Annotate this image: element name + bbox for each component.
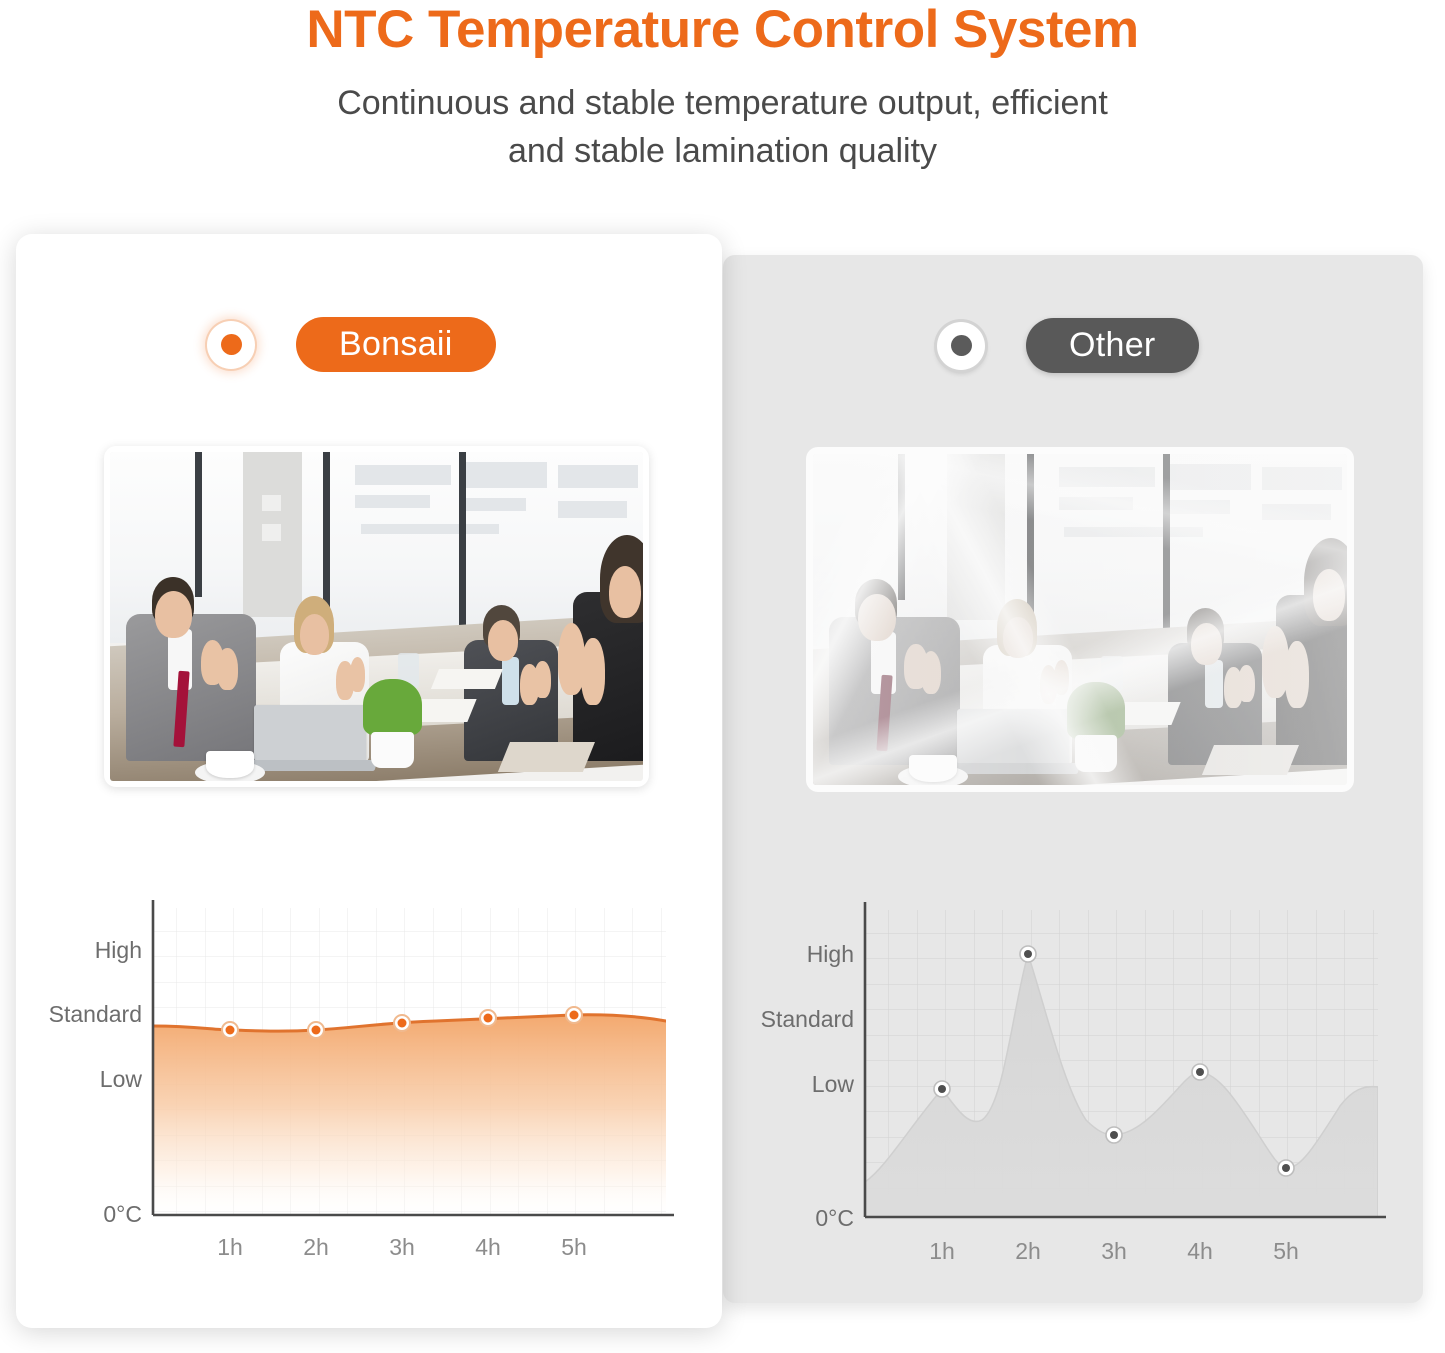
y-tick-label: High bbox=[95, 937, 142, 963]
other-brand-pill[interactable]: Other bbox=[1026, 318, 1199, 373]
page-subtitle-line-1: Continuous and stable temperature output… bbox=[0, 79, 1445, 127]
page-subtitle: Continuous and stable temperature output… bbox=[0, 79, 1445, 176]
bonsaii-photo-frame bbox=[104, 446, 649, 787]
x-tick-label: 5h bbox=[1273, 1238, 1299, 1264]
y-tick-label: High bbox=[807, 941, 854, 967]
other-photo bbox=[813, 454, 1347, 785]
bonsaii-radio-button[interactable] bbox=[207, 321, 255, 369]
other-photo-frame bbox=[806, 447, 1354, 792]
x-tick-label: 1h bbox=[929, 1238, 955, 1264]
radio-dot-icon bbox=[221, 334, 242, 355]
x-tick-label: 3h bbox=[1101, 1238, 1127, 1264]
y-tick-label: 0°C bbox=[815, 1205, 854, 1231]
y-tick-label: Low bbox=[100, 1066, 143, 1092]
bonsaii-brand-pill[interactable]: Bonsaii bbox=[296, 317, 496, 372]
radio-dot-icon bbox=[951, 335, 972, 356]
x-tick-label: 4h bbox=[475, 1234, 501, 1260]
x-tick-label: 2h bbox=[1015, 1238, 1041, 1264]
other-brand-row[interactable]: Other bbox=[937, 318, 1199, 373]
y-tick-label: Standard bbox=[49, 1001, 142, 1027]
page-header: NTC Temperature Control System Continuou… bbox=[0, 0, 1445, 175]
x-tick-label: 5h bbox=[561, 1234, 587, 1260]
x-tick-label: 3h bbox=[389, 1234, 415, 1260]
bonsaii-temperature-chart: High Standard Low 0°C 1h 2h 3h 4h 5h bbox=[34, 880, 694, 1280]
other-temperature-chart: High Standard Low 0°C 1h 2h 3h 4h 5h bbox=[746, 882, 1406, 1282]
bonsaii-brand-row[interactable]: Bonsaii bbox=[207, 317, 496, 372]
chart-area-fill bbox=[153, 1015, 666, 1215]
page-title: NTC Temperature Control System bbox=[0, 2, 1445, 58]
x-tick-label: 2h bbox=[303, 1234, 329, 1260]
bonsaii-photo bbox=[110, 452, 643, 781]
page-subtitle-line-2: and stable lamination quality bbox=[0, 127, 1445, 175]
y-tick-label: Standard bbox=[761, 1006, 854, 1032]
y-tick-label: 0°C bbox=[103, 1201, 142, 1227]
x-tick-label: 1h bbox=[217, 1234, 243, 1260]
y-tick-label: Low bbox=[812, 1071, 855, 1097]
other-radio-button[interactable] bbox=[937, 322, 985, 370]
x-tick-label: 4h bbox=[1187, 1238, 1213, 1264]
